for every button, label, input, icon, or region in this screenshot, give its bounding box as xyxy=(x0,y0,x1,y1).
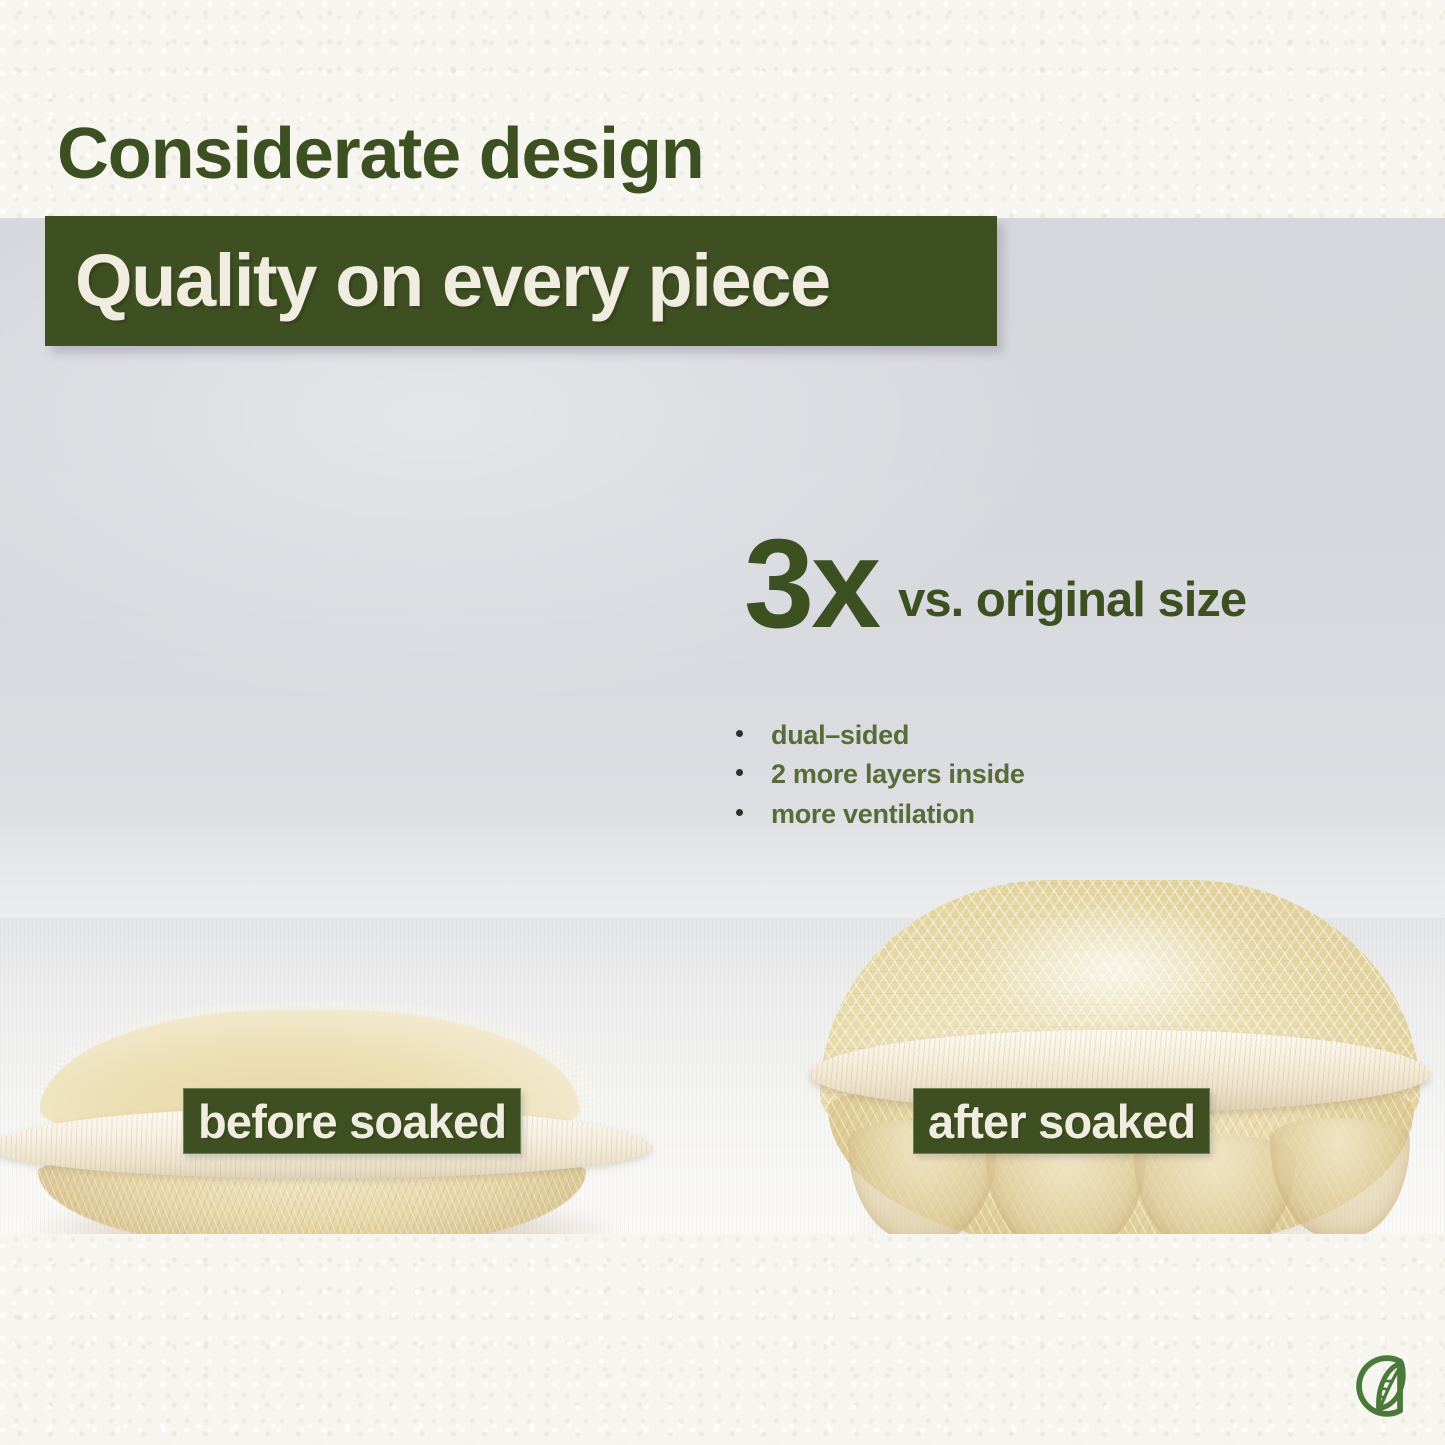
scale-multiplier: 3x xyxy=(744,530,878,638)
bullet-dot-icon xyxy=(736,730,743,737)
label-before-soaked: before soaked xyxy=(183,1088,521,1154)
scale-caption: vs. original size xyxy=(878,572,1246,638)
feature-label: 2 more layers inside xyxy=(771,755,1025,794)
list-item: more ventilation xyxy=(736,795,1025,834)
label-after-text: after soaked xyxy=(914,1098,1209,1145)
feature-label: dual–sided xyxy=(771,716,909,755)
product-comparison-photo xyxy=(0,218,1445,1234)
sponge-after-highlight xyxy=(970,898,1260,1038)
scale-callout: 3x vs. original size xyxy=(744,530,1246,638)
bullet-dot-icon xyxy=(736,769,743,776)
brand-logo xyxy=(1341,1345,1423,1427)
subtitle-banner: Quality on every piece xyxy=(45,216,997,346)
leaf-circle-logo-icon xyxy=(1341,1345,1423,1427)
subtitle-text: Quality on every piece xyxy=(45,244,830,318)
list-item: dual–sided xyxy=(736,716,1025,755)
label-before-text: before soaked xyxy=(184,1098,520,1145)
label-after-soaked: after soaked xyxy=(913,1088,1210,1154)
bullet-dot-icon xyxy=(736,809,743,816)
list-item: 2 more layers inside xyxy=(736,755,1025,794)
page-title: Considerate design xyxy=(57,118,704,190)
feature-list: dual–sided 2 more layers inside more ven… xyxy=(736,716,1025,834)
feature-label: more ventilation xyxy=(771,795,975,834)
